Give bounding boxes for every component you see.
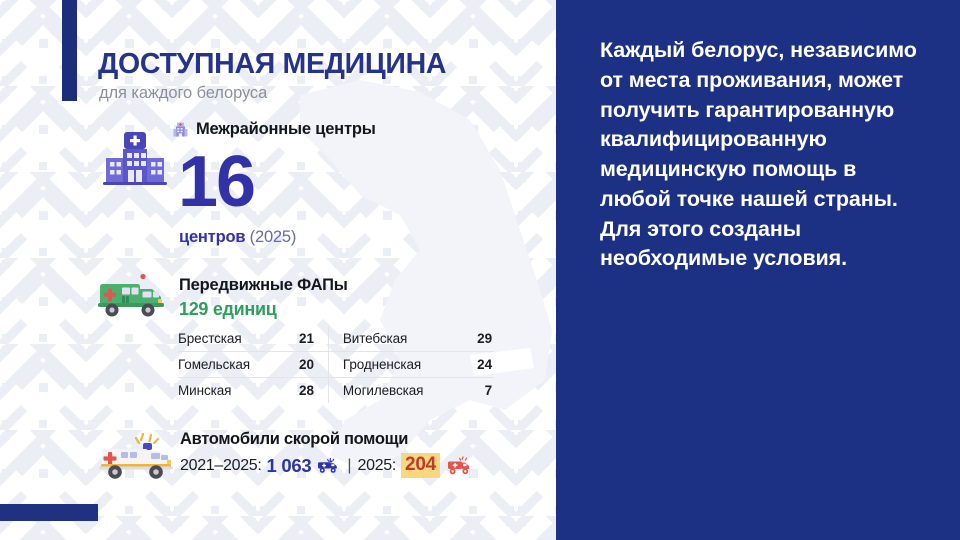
faps-title: Передвижные ФАПы [179,276,348,295]
red-ambulance-mini-icon [446,456,472,476]
region-name: Минская [178,378,277,404]
ambulances-stats-row: 2021–2025: 1 063 [180,453,472,478]
region-value: 28 [277,378,328,404]
region-value: 21 [277,326,328,352]
table-row: Минская 28 Могилевская 7 [178,378,494,404]
region-name: Могилевская [328,378,455,404]
hospital-building-icon [99,120,171,192]
centers-caption: центров (2025) [179,228,296,247]
regions-table: Брестская 21 Витебская 29 Гомельская 20 … [178,326,494,403]
page-subtitle: для каждого белоруса [99,84,267,103]
ambulances-year-label: 2025: [358,457,397,475]
red-ambulance-icon [97,432,179,482]
table-row: Брестская 21 Витебская 29 [178,326,494,352]
centers-caption-word: центров [179,228,245,246]
green-ambulance-icon [98,273,166,318]
slide-root: ДОСТУПНАЯ МЕДИЦИНА для каждого белоруса [0,0,960,540]
region-name: Гомельская [178,352,277,378]
quote-text: Каждый белорус, независимо от места прож… [600,36,920,274]
region-name: Гродненская [328,352,455,378]
table-row: Гомельская 20 Гродненская 24 [178,352,494,378]
centers-title: Межрайонные центры [196,120,376,139]
centers-title-row: Межрайонные центры [172,120,376,139]
ambulances-title: Автомобили скорой помощи [180,430,408,449]
centers-count-value: 16 [178,146,254,218]
faps-units-value: 129 единиц [179,299,277,320]
stats-separator: | [347,457,351,475]
ambulances-period-value: 1 063 [267,455,312,477]
infographic-panel: ДОСТУПНАЯ МЕДИЦИНА для каждого белоруса [0,0,556,540]
hospital-emoji-icon [172,121,189,138]
ambulances-period-label: 2021–2025: [180,457,262,475]
blue-ambulance-icon [317,458,339,474]
region-value: 29 [456,326,494,352]
region-name: Витебская [328,326,455,352]
region-value: 20 [277,352,328,378]
region-name: Брестская [178,326,277,352]
region-value: 24 [456,352,494,378]
quote-panel: Каждый белорус, независимо от места прож… [556,0,960,540]
ambulances-year-value: 204 [401,453,440,478]
centers-caption-year: (2025) [250,228,297,246]
region-value: 7 [456,378,494,404]
page-title: ДОСТУПНАЯ МЕДИЦИНА [98,50,446,79]
